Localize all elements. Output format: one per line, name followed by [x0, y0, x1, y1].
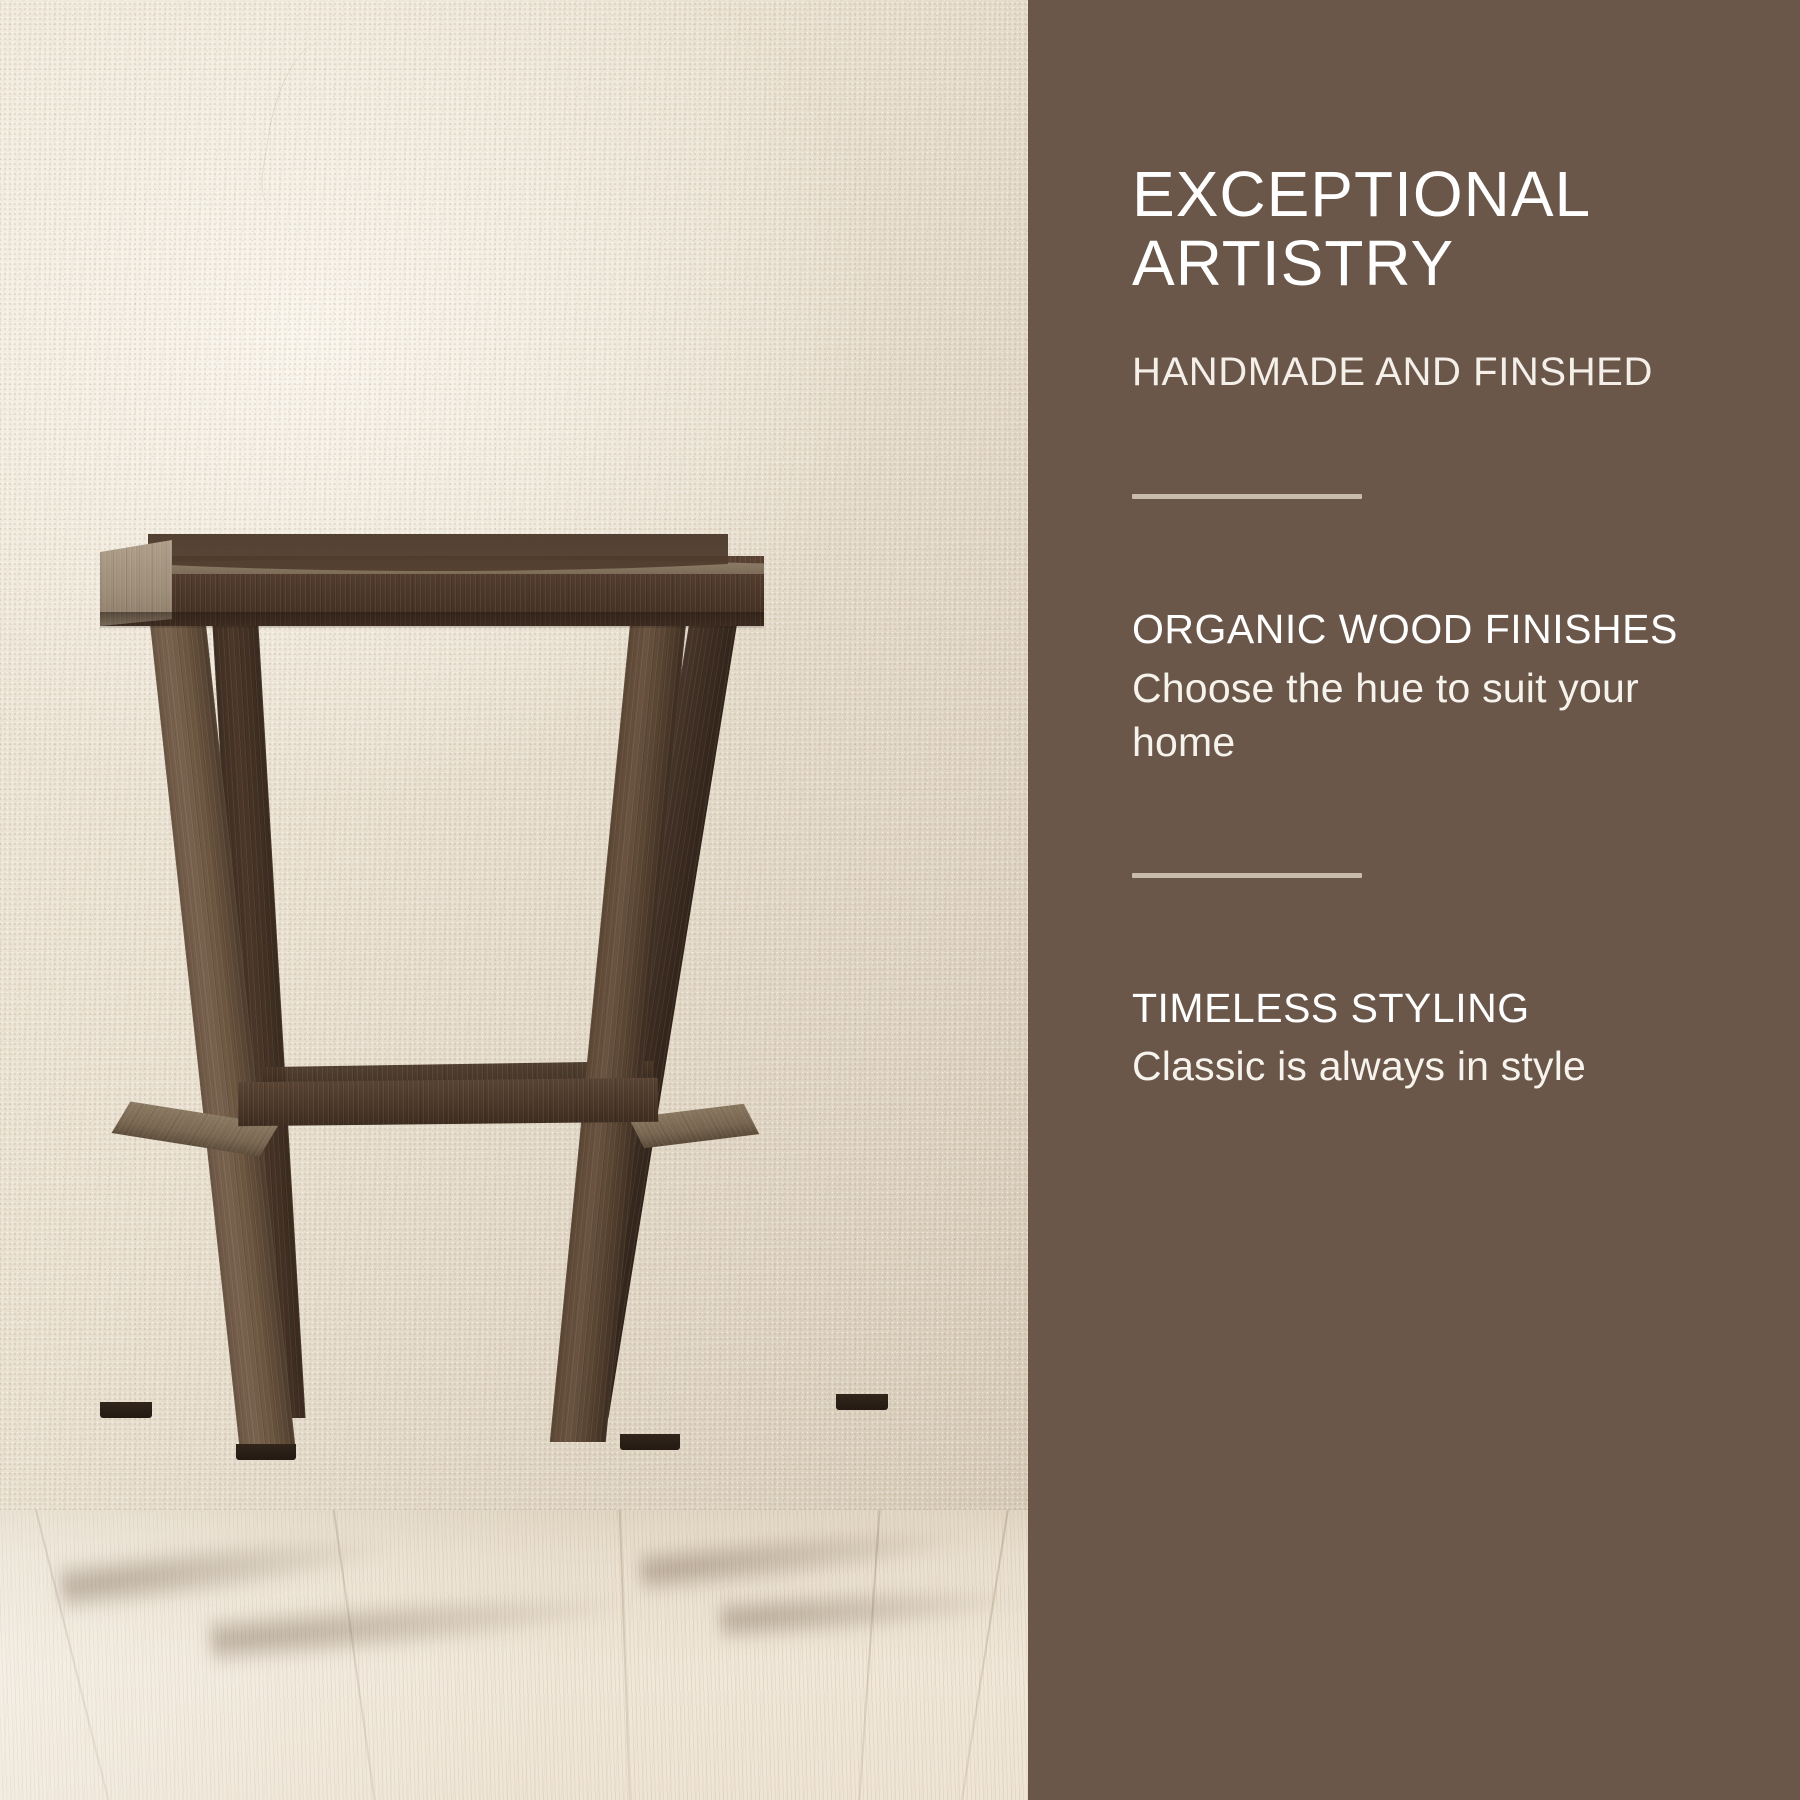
panel-headline: EXCEPTIONAL ARTISTRY	[1132, 160, 1704, 298]
stool-seat-underside-shadow	[100, 612, 764, 628]
stool-foot-right-front	[620, 1434, 680, 1450]
product-photo	[0, 0, 1028, 1800]
info-panel: EXCEPTIONAL ARTISTRY HANDMADE AND FINSHE…	[1028, 0, 1800, 1800]
stool-stretcher-front	[238, 1078, 658, 1126]
feature-title: TIMELESS STYLING	[1132, 982, 1704, 1035]
divider-rule-2	[1132, 873, 1362, 878]
feature-body: Classic is always in style	[1132, 1039, 1704, 1093]
feature-title: ORGANIC WOOD FINISHES	[1132, 603, 1704, 656]
product-feature-card: EXCEPTIONAL ARTISTRY HANDMADE AND FINSHE…	[0, 0, 1800, 1800]
feature-block-organic-wood-finishes: ORGANIC WOOD FINISHES Choose the hue to …	[1132, 603, 1704, 878]
stool-foot-left-rear	[100, 1402, 152, 1418]
stool-foot-left-front	[236, 1444, 296, 1460]
feature-block-timeless-styling: TIMELESS STYLING Classic is always in st…	[1132, 982, 1704, 1093]
bar-stool	[0, 0, 1028, 1800]
feature-body: Choose the hue to suit your home	[1132, 661, 1704, 769]
panel-subhead: HANDMADE AND FINSHED	[1132, 346, 1704, 398]
divider-rule-1	[1132, 494, 1362, 499]
stool-foot-right-rear	[836, 1394, 888, 1410]
